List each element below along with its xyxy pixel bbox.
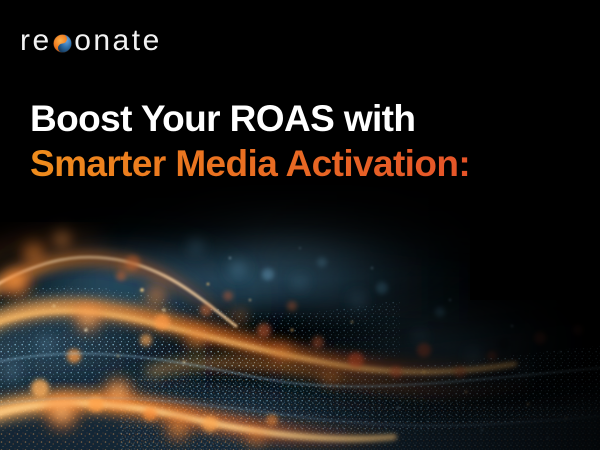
resonate-orb-icon bbox=[53, 34, 72, 53]
headline-line-2: Smarter Media Activation: bbox=[30, 141, 590, 186]
headline-line-1: Boost Your ROAS with bbox=[30, 96, 590, 141]
resonate-logo[interactable]: re on bbox=[20, 24, 162, 58]
headline-block: Boost Your ROAS with Smarter Media Activ… bbox=[30, 96, 590, 186]
promo-banner: re on bbox=[0, 0, 600, 450]
abstract-particle-wave-artwork bbox=[0, 0, 600, 450]
logo-text-after: onate bbox=[74, 26, 162, 56]
logo-text-before: re bbox=[20, 26, 52, 56]
